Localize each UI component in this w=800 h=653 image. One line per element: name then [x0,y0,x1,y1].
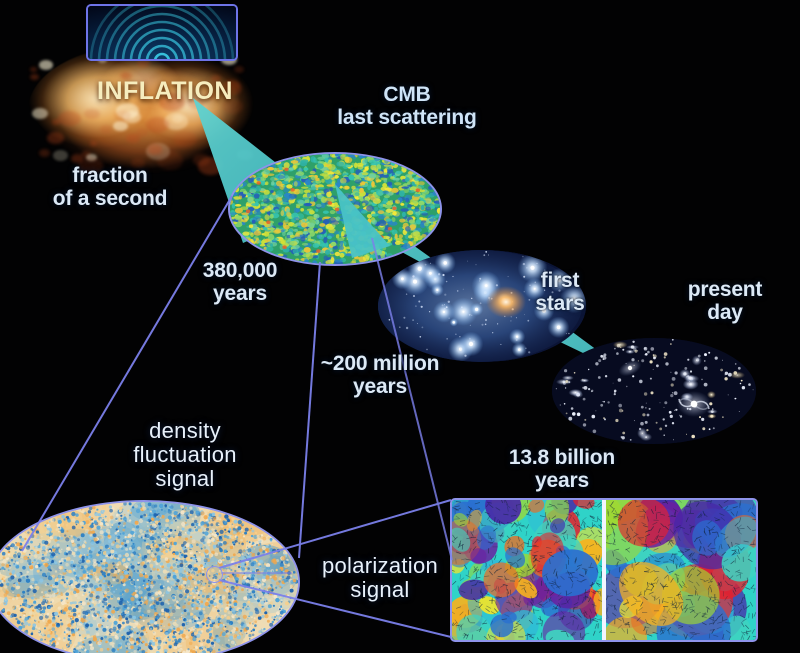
cmb-last-scattering-label: CMB last scattering [312,84,502,129]
present-day-label: present day [662,279,788,324]
polarization-signal-label: polarization signal [300,554,460,602]
200-million-years-label: ~200 million years [305,353,455,398]
density-fluctuation-signal-label: density fluctuation signal [95,419,275,490]
cosmic-timeline-diagram: INFLATION CMB last scattering fraction o… [0,0,800,653]
fraction-of-a-second-label: fraction of a second [20,165,200,210]
first-stars-label: first stars [500,270,620,315]
13-8-billion-years-label: 13.8 billion years [482,447,642,492]
380000-years-label: 380,000 years [175,260,305,305]
connector-cmb-to-density-left [22,196,232,551]
density-map-zoom-spot [206,566,223,583]
connector-cmb-to-density-right [299,262,320,558]
